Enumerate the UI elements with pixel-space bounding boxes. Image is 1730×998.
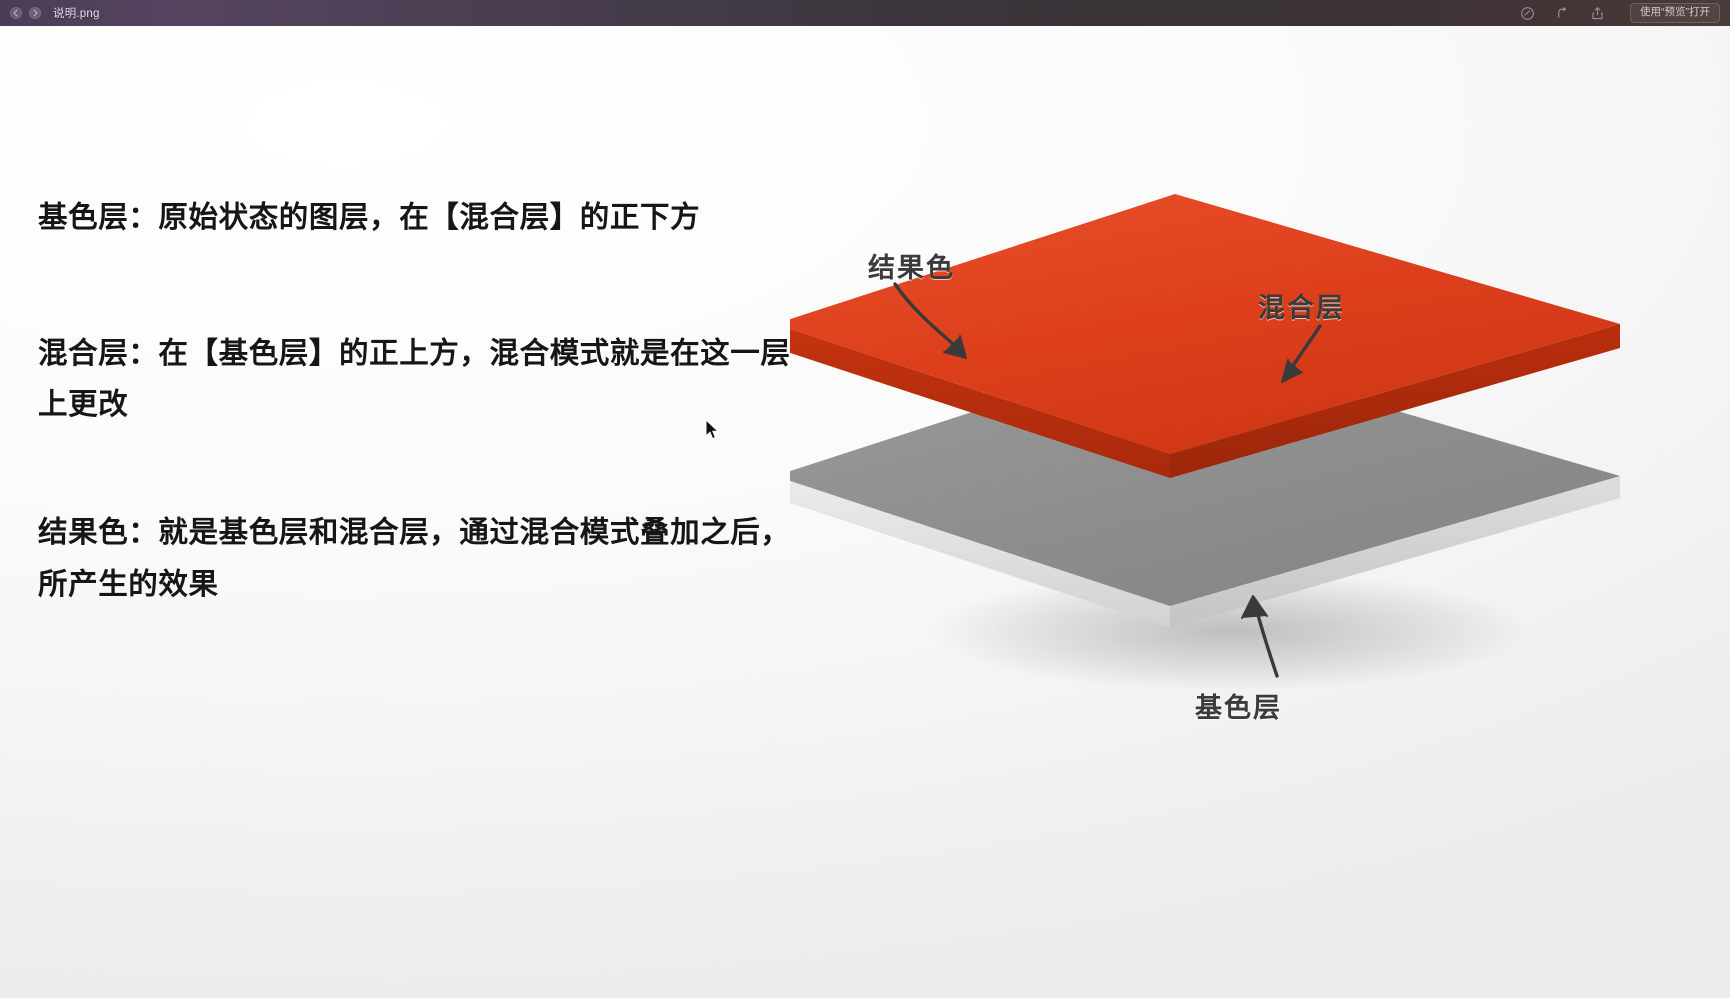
image-canvas: 基色层：原始状态的图层，在【混合层】的正下方 混合层：在【基色层】的正上方，混合… — [0, 26, 1730, 998]
layer-stack-diagram: 结果色 混合层 基色层 — [790, 176, 1670, 796]
titlebar-right-controls: 使用“预览”打开 — [1519, 3, 1720, 23]
previous-item-icon[interactable] — [10, 7, 22, 19]
diagram-label-blend-layer: 混合层 — [1258, 286, 1345, 325]
next-item-icon[interactable] — [29, 7, 41, 19]
window-filename: 说明.png — [53, 5, 100, 21]
rotate-icon[interactable] — [1554, 5, 1570, 21]
paragraph-base-layer-lead: 基色层： — [38, 199, 158, 234]
paragraph-blend-layer: 混合层：在【基色层】的正上方，混合模式就是在这一层上更改 — [38, 327, 798, 430]
open-with-preview-button[interactable]: 使用“预览”打开 — [1630, 3, 1720, 23]
share-icon[interactable] — [1589, 5, 1605, 21]
mouse-cursor — [705, 419, 721, 441]
paragraph-result-color: 结果色：就是基色层和混合层，通过混合模式叠加之后，所产生的效果 — [38, 506, 798, 609]
paragraph-base-layer-body: 原始状态的图层，在【混合层】的正下方 — [158, 199, 700, 234]
blend-layer-top-face — [790, 194, 1620, 454]
paragraph-base-layer: 基色层：原始状态的图层，在【混合层】的正下方 — [38, 191, 798, 243]
diagram-label-base-layer: 基色层 — [1195, 686, 1282, 725]
diagram-label-result-color: 结果色 — [868, 246, 955, 285]
markup-icon[interactable] — [1519, 5, 1535, 21]
titlebar-left-controls: 说明.png — [10, 5, 100, 21]
quick-look-window: 说明.png — [0, 0, 1730, 998]
explanation-text-column: 基色层：原始状态的图层，在【混合层】的正下方 混合层：在【基色层】的正上方，混合… — [38, 191, 798, 609]
paragraph-blend-layer-lead: 混合层： — [38, 335, 158, 370]
window-titlebar: 说明.png — [0, 0, 1730, 26]
image-page: 基色层：原始状态的图层，在【混合层】的正下方 混合层：在【基色层】的正上方，混合… — [0, 26, 1730, 998]
paragraph-result-color-lead: 结果色： — [38, 514, 158, 549]
